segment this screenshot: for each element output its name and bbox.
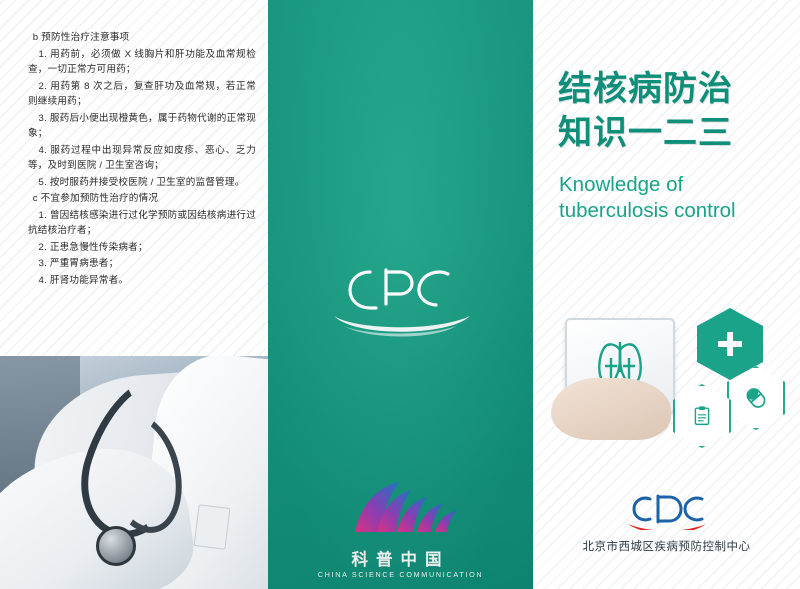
- cover-title-line-1: 结核病防治: [558, 68, 798, 112]
- hex-clipboard: [673, 384, 731, 448]
- paragraph: 1. 曾因结核感染进行过化学预防或因结核病进行过抗结核治疗者；: [28, 208, 256, 239]
- china-science-communication-logo-icon: [321, 480, 481, 540]
- paragraph: 3. 服药后小便出现橙黄色，属于药物代谢的正常现象；: [28, 111, 256, 142]
- medical-cross-icon: [715, 329, 745, 359]
- clipboard-icon: [690, 404, 714, 428]
- kp-logo-title: 科普中国: [268, 546, 533, 570]
- doctor-photo: [0, 356, 268, 589]
- paragraph: c 不宜参加预防性治疗的情况: [28, 191, 256, 207]
- cpc-logo-icon: [326, 258, 476, 338]
- cdc-logo-icon: [624, 490, 710, 530]
- paragraph: b 预防性治疗注意事项: [28, 30, 256, 46]
- paragraph: 5. 按时服药并接受校医院 / 卫生室的监督管理。: [28, 175, 256, 191]
- kp-logo-subtitle: CHINA SCIENCE COMMUNICATION: [268, 570, 533, 579]
- paragraph: 4. 服药过程中出现异常反应如皮疹、恶心、乏力等，及时到医院 / 卫生室咨询；: [28, 143, 256, 174]
- id-badge: [194, 504, 231, 550]
- hand-shape: [551, 378, 671, 440]
- left-panel-body-text: b 预防性治疗注意事项 1. 用药前，必须做 X 线胸片和肝功能及血常规检查，一…: [28, 30, 256, 290]
- stethoscope-chestpiece-icon: [96, 526, 136, 566]
- right-panel: 结核病防治 知识一二三 Knowledge of tuberculosis co…: [533, 0, 800, 589]
- tablet-lungs-icon: [551, 312, 679, 432]
- left-panel: b 预防性治疗注意事项 1. 用药前，必须做 X 线胸片和肝功能及血常规检查，一…: [0, 0, 268, 589]
- capsule-pill-icon: [743, 385, 769, 411]
- cover-title-line-2: 知识一二三: [558, 112, 798, 156]
- middle-panel: 科普中国 CHINA SCIENCE COMMUNICATION: [268, 0, 533, 589]
- paragraph: 2. 用药第 8 次之后，复查肝功及血常规，若正常则继续用药；: [28, 79, 256, 110]
- paragraph: 3. 严重胃病患者；: [28, 256, 256, 272]
- brochure-page: b 预防性治疗注意事项 1. 用药前，必须做 X 线胸片和肝功能及血常规检查，一…: [0, 0, 800, 589]
- cover-illustration: [551, 300, 800, 470]
- paragraph: 1. 用药前，必须做 X 线胸片和肝功能及血常规检查，一切正常方可用药；: [28, 47, 256, 78]
- paragraph: 2. 正患急慢性传染病者；: [28, 240, 256, 256]
- cover-title-chinese: 结核病防治 知识一二三: [558, 68, 798, 155]
- cover-title-english: Knowledge of tuberculosis control: [559, 172, 789, 224]
- organization-name: 北京市西城区疾病预防控制中心: [533, 538, 800, 554]
- paragraph: 4. 肝肾功能异常者。: [28, 273, 256, 289]
